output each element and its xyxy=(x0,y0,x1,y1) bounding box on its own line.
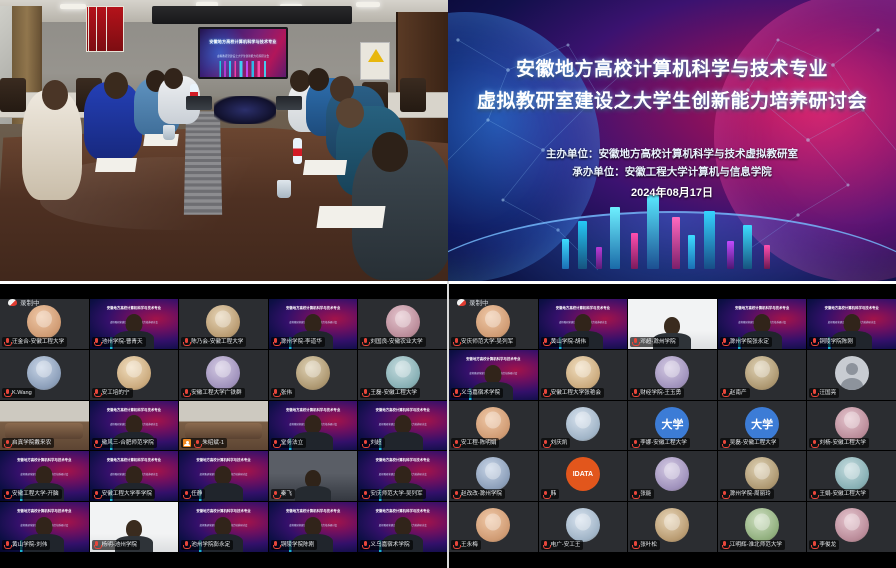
avatar xyxy=(655,356,689,390)
participant-tile[interactable]: 安徽地方高校计算机科学与技术专业虚拟教研室建设之大学生创新能力培养研讨会滁州学院… xyxy=(718,299,807,349)
conference-microphone xyxy=(214,96,276,124)
table-cable-tray xyxy=(184,111,222,214)
participant-name-badge: 铜陵学院陈刚 xyxy=(271,540,318,550)
ceiling-light xyxy=(60,4,86,9)
avatar xyxy=(745,457,779,491)
avatar-face xyxy=(485,513,501,530)
avatar-face xyxy=(485,412,501,429)
participant-tile[interactable]: 安徽地方高校计算机科学与技术专业虚拟教研室建设之大学生创新能力培养研讨会安徽工程… xyxy=(90,451,179,501)
virtual-bg-title: 安徽地方高校计算机科学与技术专业 xyxy=(179,458,268,463)
recording-dot-icon xyxy=(457,299,466,306)
participant-tile-grid: 安庆师范大学-吴列军安徽地方高校计算机科学与技术专业虚拟教研室建设之大学生创新能… xyxy=(449,299,896,552)
microphone-muted-icon xyxy=(94,541,100,548)
participant-tile[interactable]: 安徽地方高校计算机科学与技术专业虚拟教研室建设之大学生创新能力培养研讨会铜陵学院… xyxy=(269,502,358,552)
microphone-muted-icon xyxy=(4,338,10,345)
participant-name: 义乌嘉宿术学院 xyxy=(370,541,409,549)
participant-name-badge: 财经学院-王玉勇 xyxy=(630,388,684,398)
participant-tile[interactable]: 大学吴磊-安徽工程大学 xyxy=(718,401,807,451)
participant-name-badge: 黄山学院-胡伟 xyxy=(541,337,589,347)
participant-name: 朱绍斌-1 xyxy=(202,439,224,447)
microphone-muted-icon xyxy=(632,491,638,498)
microphone-muted-icon xyxy=(183,338,189,345)
microphone-muted-icon xyxy=(543,541,549,548)
avatar xyxy=(835,407,869,441)
right-meeting-grid-panel: 录制中 安庆师范大学-吴列军安徽地方高校计算机科学与技术专业虚拟教研室建设之大学… xyxy=(449,284,896,568)
participant-tile[interactable]: 秦飞 xyxy=(269,451,358,501)
virtual-bg-title: 安徽地方高校计算机科学与技术专业 xyxy=(269,306,358,311)
participant-name-badge: 池州学院-曹青天 xyxy=(92,337,146,347)
participant-name: 安徽工程大学-开脑 xyxy=(12,490,59,498)
participant-tile[interactable]: 邓超-滁州学院 xyxy=(628,299,717,349)
participant-name: 铜陵学院陈刚 xyxy=(819,338,853,346)
participant-tile[interactable]: 电广-安工王 xyxy=(539,502,628,552)
participant-name: 张叶松 xyxy=(640,541,657,549)
event-banner: 安徽地方高校计算机科学与技术专业 虚拟教研室建设之大学生创新能力培养研讨会 主办… xyxy=(448,0,896,281)
microphone-muted-icon xyxy=(453,491,459,498)
avatar xyxy=(117,356,151,390)
banner-date: 2024年08月17日 xyxy=(448,184,896,200)
microphone-muted-icon xyxy=(362,440,368,447)
participant-name-badge: 义乌嘉宿术学院 xyxy=(360,540,412,550)
participant-name: K.Wang xyxy=(12,389,32,397)
participant-name: 李娜-安徽工程大学 xyxy=(640,439,687,447)
participant-name-badge: 义乌嘉宿术学院 xyxy=(451,388,503,398)
microphone-muted-icon xyxy=(273,541,279,548)
wall-poster xyxy=(106,6,124,52)
screenshot-root: 安徽地方高校计算机科学与技术专业 虚拟教研室建设之大学生创新能力培养研讨会 xyxy=(0,0,896,568)
participant-name: 徽风三-合肥师范学院 xyxy=(102,439,154,447)
avatar xyxy=(206,305,240,339)
recording-dot-icon xyxy=(8,299,17,306)
avatar-orange: IDATA xyxy=(566,457,600,491)
recording-indicator: 录制中 xyxy=(8,297,40,307)
screen-skyline-graphic xyxy=(216,61,269,77)
participant-name: 滁州学院张永定 xyxy=(730,338,769,346)
screen-subtitle: 虚拟教研室建设之大学生创新能力培养研讨会 xyxy=(200,55,286,59)
participant-tile[interactable]: 安徽地方高校计算机科学与技术专业虚拟教研室建设之大学生创新能力培养研讨会池州学院… xyxy=(90,299,179,349)
microphone-muted-icon xyxy=(543,389,549,396)
participant-name: 安庆师范大学-吴列军 xyxy=(370,490,422,498)
avatar-face xyxy=(844,513,860,530)
avatar-face xyxy=(844,462,860,479)
participant-name: 安工程-陈明娟 xyxy=(461,439,496,447)
participant-name-badge: 任静 xyxy=(181,489,205,499)
microphone-muted-icon xyxy=(94,389,100,396)
microphone-muted-icon xyxy=(362,338,368,345)
participant-name-badge: 张叶松 xyxy=(630,540,660,550)
microphone-muted-icon xyxy=(543,338,549,345)
laptop xyxy=(276,96,302,110)
avatar xyxy=(566,508,600,542)
participant-tile[interactable]: 安徽工程大学广铁群 xyxy=(179,350,268,400)
participant-name: 滁州学院-李道华 xyxy=(281,338,322,346)
microphone-muted-icon xyxy=(453,338,459,345)
avatar-face xyxy=(664,513,680,530)
avatar xyxy=(566,407,600,441)
participant-tile[interactable]: 江明辉-淮北师范大学 xyxy=(718,502,807,552)
virtual-bg-title: 安徽地方高校计算机科学与技术专业 xyxy=(269,509,358,514)
participant-tile[interactable]: 王永梅 xyxy=(449,502,538,552)
participant-name: 王磊-安徽工程大学 xyxy=(370,389,417,397)
virtual-bg-title: 安徽地方高校计算机科学与技术专业 xyxy=(0,509,89,514)
virtual-bg-title: 安徽地方高校计算机科学与技术专业 xyxy=(0,458,89,463)
avatar xyxy=(655,508,689,542)
participant-name-badge: 汪国亮 xyxy=(809,388,839,398)
microphone-muted-icon xyxy=(632,541,638,548)
banner-host-label: 主办单位：安徽地方高校计算机科学与技术虚拟教研室 xyxy=(448,146,896,161)
participant-tile[interactable]: 安徽地方高校计算机科学与技术专业虚拟教研室建设之大学生创新能力培养研讨会安庆师范… xyxy=(358,451,447,501)
participant-name-badge: 安徽工程大学-开脑 xyxy=(2,489,62,499)
avatar-face xyxy=(754,513,770,530)
participant-name: 滁州学院-周丽玲 xyxy=(730,490,771,498)
avatar-daxue: 大学 xyxy=(655,407,689,441)
participant-name: 李俊龙 xyxy=(819,541,836,549)
participant-tile[interactable]: 安工程-陈明娟 xyxy=(449,401,538,451)
microphone-muted-icon xyxy=(273,491,279,498)
participant-name: 黄山学院-刘伟 xyxy=(12,541,47,549)
participant-name-badge: 池州学院彭永定 xyxy=(181,540,233,550)
participant-tile[interactable]: 安徽地方高校计算机科学与技术专业虚拟教研室建设之大学生创新能力培养研讨会黄山学院… xyxy=(539,299,628,349)
participant-tile[interactable]: 安徽地方高校计算机科学与技术专业虚拟教研室建设之大学生创新能力培养研讨会刘超 xyxy=(358,401,447,451)
participant-name: 杨明-池州学院 xyxy=(102,541,137,549)
participant-tile[interactable]: 安徽地方高校计算机科学与技术专业虚拟教研室建设之大学生创新能力培养研讨会滁州学院… xyxy=(269,299,358,349)
participant-tile[interactable]: 刘杨-安徽工程大学 xyxy=(807,401,896,451)
participant-name: 吴磊-安徽工程大学 xyxy=(730,439,777,447)
avatar xyxy=(476,305,510,339)
microphone-muted-icon xyxy=(722,389,728,396)
participant-name: 赵南产 xyxy=(730,389,747,397)
microphone-muted-icon xyxy=(722,338,728,345)
silhouette-body xyxy=(295,486,331,501)
participant-name: 任静 xyxy=(191,490,202,498)
microphone-muted-icon xyxy=(94,440,100,447)
avatar xyxy=(27,305,61,339)
participant-name: 赵改改-滁州学院 xyxy=(461,490,502,498)
participant-name: 启真学院戴来农 xyxy=(12,439,51,447)
participant-name-badge: 安工培的宁 xyxy=(92,388,133,398)
participant-name-badge: K.Wang xyxy=(2,388,35,398)
participant-tile[interactable]: 汪国亮 xyxy=(807,350,896,400)
avatar-face xyxy=(754,361,770,378)
participant-name: 王娟-安徽工程大学 xyxy=(819,490,866,498)
participant-name: 邓超-滁州学院 xyxy=(640,338,675,346)
participant-name: 堂务法立 xyxy=(281,439,303,447)
participant-tile[interactable]: 滁州学院-周丽玲 xyxy=(718,451,807,501)
participant-silhouette xyxy=(201,469,245,501)
participant-name-badge: 安庆师范大学-吴列军 xyxy=(451,337,516,347)
participant-name: 江明辉-淮北师范大学 xyxy=(730,541,782,549)
participant-name: 秦飞 xyxy=(281,490,292,498)
participant-name-badge: 王永梅 xyxy=(451,540,481,550)
silhouette-body xyxy=(203,483,243,501)
avatar xyxy=(386,356,420,390)
avatar-face xyxy=(305,361,321,378)
participant-name-badge: 刘庆凯 xyxy=(541,438,571,448)
attendee-head xyxy=(104,72,128,99)
avatar-face xyxy=(126,361,142,378)
participant-name-badge: 朱绍斌-1 xyxy=(181,438,227,448)
participant-tile[interactable]: 安徽地方高校计算机科学与技术专业虚拟教研室建设之大学生创新能力培养研讨会任静 xyxy=(179,451,268,501)
virtual-bg-title: 安徽地方高校计算机科学与技术专业 xyxy=(358,509,447,514)
participant-name-badge: 安徽工程大学广铁群 xyxy=(181,388,244,398)
microphone-muted-icon xyxy=(453,389,459,396)
avatar-face xyxy=(575,513,591,530)
participant-silhouette xyxy=(381,418,425,450)
participant-name-badge: 徽风三-合肥师范学院 xyxy=(92,438,157,448)
participant-tile[interactable]: 王磊-安徽工程大学 xyxy=(358,350,447,400)
attendee-head xyxy=(372,132,408,172)
attendee-head xyxy=(308,68,329,91)
avatar xyxy=(206,356,240,390)
microphone-muted-icon xyxy=(453,541,459,548)
microphone-muted-icon xyxy=(4,389,10,396)
avatar-default xyxy=(835,356,869,390)
participant-name: 安徽工程大学李学院 xyxy=(102,490,152,498)
avatar xyxy=(566,356,600,390)
top-half: 安徽地方高校计算机科学与技术专业 虚拟教研室建设之大学生创新能力培养研讨会 xyxy=(0,0,896,284)
participant-tile[interactable]: 杨明-池州学院 xyxy=(90,502,179,552)
avatar-face xyxy=(575,361,591,378)
virtual-bg-title: 安徽地方高校计算机科学与技术专业 xyxy=(807,306,896,311)
participant-name-badge: 韩 xyxy=(541,489,560,499)
microphone-muted-icon xyxy=(362,491,368,498)
participant-tile[interactable]: 安徽地方高校计算机科学与技术专业虚拟教研室建设之大学生创新能力培养研讨会安徽工程… xyxy=(0,451,89,501)
participant-name: 刘超 xyxy=(370,439,381,447)
paper-document xyxy=(95,158,137,172)
skyline-graphic xyxy=(557,191,787,269)
participant-tile[interactable]: 李俊龙 xyxy=(807,502,896,552)
microphone-muted-icon xyxy=(543,491,549,498)
microphone-muted-icon xyxy=(183,491,189,498)
participant-tile[interactable]: 张叶松 xyxy=(628,502,717,552)
participant-tile[interactable]: 张伟 xyxy=(269,350,358,400)
participant-name-badge: 邓超-滁州学院 xyxy=(630,337,678,347)
avatar-daxue: 大学 xyxy=(745,407,779,441)
microphone-muted-icon xyxy=(4,541,10,548)
participant-tile[interactable]: 安徽地方高校计算机科学与技术专业虚拟教研室建设之大学生创新能力培养研讨会义乌嘉宿… xyxy=(449,350,538,400)
microphone-muted-icon xyxy=(273,440,279,447)
microphone-muted-icon xyxy=(183,541,189,548)
participant-name-badge: 杨明-池州学院 xyxy=(92,540,140,550)
participant-name-badge: 启真学院戴来农 xyxy=(2,438,54,448)
microphone-muted-icon xyxy=(811,491,817,498)
participant-tile[interactable]: 陈乃会-安徽工程大学 xyxy=(179,299,268,349)
participant-tile[interactable]: 财经学院-王玉勇 xyxy=(628,350,717,400)
microphone-muted-icon xyxy=(183,389,189,396)
virtual-bg-title: 安徽地方高校计算机科学与技术专业 xyxy=(90,458,179,463)
participant-tile[interactable]: 启真学院戴来农 xyxy=(0,401,89,451)
laptop xyxy=(186,96,212,110)
virtual-bg-title: 安徽地方高校计算机科学与技术专业 xyxy=(269,408,358,413)
participant-tile[interactable]: 刘庆凯 xyxy=(539,401,628,451)
avatar xyxy=(476,407,510,441)
participant-name-badge: 张能 xyxy=(630,489,654,499)
virtual-bg-title: 安徽地方高校计算机科学与技术专业 xyxy=(358,408,447,413)
microphone-muted-icon xyxy=(632,338,638,345)
participant-tile[interactable]: 赵南产 xyxy=(718,350,807,400)
paper-cup xyxy=(163,125,175,140)
microphone-muted-icon xyxy=(194,440,200,447)
avatar-face xyxy=(395,361,411,378)
paper-cup xyxy=(277,180,291,198)
chair xyxy=(0,78,26,112)
avatar xyxy=(835,457,869,491)
participant-name-badge: 陈乃会-安徽工程大学 xyxy=(181,337,246,347)
avatar-face xyxy=(664,462,680,479)
avatar-face xyxy=(754,462,770,479)
participant-name: 刘国良-安徽农业大学 xyxy=(370,338,422,346)
attendee-head xyxy=(290,70,310,92)
participant-tile[interactable]: 赵改改-滁州学院 xyxy=(449,451,538,501)
water-bottle xyxy=(293,138,302,164)
banner-organizer-label: 承办单位：安徽工程大学计算机与信息学院 xyxy=(448,164,896,179)
participant-name: 义乌嘉宿术学院 xyxy=(461,389,500,397)
avatar-face xyxy=(664,361,680,378)
participant-name: 池州学院彭永定 xyxy=(191,541,230,549)
microphone-muted-icon xyxy=(4,440,10,447)
ceiling-light xyxy=(356,2,380,7)
participant-name-badge: 刘杨-安徽工程大学 xyxy=(809,438,869,448)
participant-name: 刘庆凯 xyxy=(551,439,568,447)
virtual-bg-title: 安徽地方高校计算机科学与技术专业 xyxy=(90,306,179,311)
participant-name-badge: 滁州学院张永定 xyxy=(720,337,772,347)
virtual-bg-title: 安徽地方高校计算机科学与技术专业 xyxy=(539,306,628,311)
avatar-face xyxy=(575,412,591,429)
microphone-muted-icon xyxy=(722,491,728,498)
participant-name-badge: 李俊龙 xyxy=(809,540,839,550)
microphone-muted-icon xyxy=(94,338,100,345)
microphone-muted-icon xyxy=(273,338,279,345)
attendee-head xyxy=(42,80,68,110)
avatar xyxy=(835,508,869,542)
participant-tile[interactable]: 大学李娜-安徽工程大学 xyxy=(628,401,717,451)
avatar xyxy=(296,356,330,390)
participant-name: 汪金合-安徽工程大学 xyxy=(12,338,64,346)
microphone-muted-icon xyxy=(722,440,728,447)
avatar xyxy=(655,457,689,491)
participant-silhouette xyxy=(293,471,333,501)
microphone-muted-icon xyxy=(543,440,549,447)
virtual-bg-title: 安徽地方高校计算机科学与技术专业 xyxy=(358,458,447,463)
participant-name-badge: 安工程-陈明娟 xyxy=(451,438,499,448)
virtual-bg-title: 安徽地方高校计算机科学与技术专业 xyxy=(718,306,807,311)
participant-tile[interactable]: 安徽地方高校计算机科学与技术专业虚拟教研室建设之大学生创新能力培养研讨会义乌嘉宿… xyxy=(358,502,447,552)
recording-label: 录制中 xyxy=(20,297,40,307)
participant-name-badge: 安庆师范大学-吴列军 xyxy=(360,489,425,499)
participant-name-badge: 电广-安工王 xyxy=(541,540,584,550)
avatar-face xyxy=(844,412,860,429)
participant-tile[interactable]: 安徽地方高校计算机科学与技术专业虚拟教研室建设之大学生创新能力培养研讨会铜陵学院… xyxy=(807,299,896,349)
paper-document xyxy=(316,206,385,228)
avatar xyxy=(386,305,420,339)
ceiling-beam xyxy=(152,6,352,24)
microphone-muted-icon xyxy=(811,541,817,548)
participant-tile-grid: 汪金合-安徽工程大学安徽地方高校计算机科学与技术专业虚拟教研室建设之大学生创新能… xyxy=(0,299,447,552)
attendee-head xyxy=(336,98,364,128)
silhouette-body xyxy=(383,432,423,450)
participant-name-badge: 铜陵学院陈刚 xyxy=(809,337,856,347)
avatar xyxy=(27,356,61,390)
participant-name: 韩 xyxy=(551,490,557,498)
avatar-face xyxy=(485,462,501,479)
avatar xyxy=(476,457,510,491)
participant-tile[interactable]: 安徽地方高校计算机科学与技术专业虚拟教研室建设之大学生创新能力培养研讨会池州学院… xyxy=(179,502,268,552)
participant-tile[interactable]: 刘国良-安徽农业大学 xyxy=(358,299,447,349)
virtual-bg-title: 安徽地方高校计算机科学与技术专业 xyxy=(179,509,268,514)
participant-tile[interactable]: 安徽地方高校计算机科学与技术专业虚拟教研室建设之大学生创新能力培养研讨会徽风三-… xyxy=(90,401,179,451)
participant-name-badge: 赵南产 xyxy=(720,388,750,398)
avatar-face xyxy=(36,361,52,378)
participant-tile[interactable]: 安徽工程大学张艳会 xyxy=(539,350,628,400)
warning-sign xyxy=(360,42,390,80)
participant-name: 张能 xyxy=(640,490,651,498)
banner-title-line2: 虚拟教研室建设之大学生创新能力培养研讨会 xyxy=(448,86,896,113)
microphone-muted-icon xyxy=(811,440,817,447)
recording-indicator: 录制中 xyxy=(457,297,489,307)
participant-name: 汪国亮 xyxy=(819,389,836,397)
participant-name: 电广-安工王 xyxy=(551,541,581,549)
microphone-muted-icon xyxy=(722,541,728,548)
participant-tile[interactable]: 安徽地方高校计算机科学与技术专业虚拟教研室建设之大学生创新能力培养研讨会黄山学院… xyxy=(0,502,89,552)
microphone-muted-icon xyxy=(94,491,100,498)
participant-name-badge: 安徽工程大学张艳会 xyxy=(541,388,604,398)
participant-name: 王永梅 xyxy=(461,541,478,549)
avatar xyxy=(745,356,779,390)
virtual-bg-title: 安徽地方高校计算机科学与技术专业 xyxy=(449,357,538,362)
participant-name-badge: 王娟-安徽工程大学 xyxy=(809,489,869,499)
participant-tile[interactable]: 安徽地方高校计算机科学与技术专业虚拟教研室建设之大学生创新能力培养研讨会堂务法立 xyxy=(269,401,358,451)
avatar-face xyxy=(395,310,411,327)
participant-name: 安徽工程大学广铁群 xyxy=(191,389,241,397)
conference-room-photo: 安徽地方高校计算机科学与技术专业 虚拟教研室建设之大学生创新能力培养研讨会 xyxy=(0,0,448,281)
participant-tile[interactable]: 王娟-安徽工程大学 xyxy=(807,451,896,501)
microphone-muted-icon xyxy=(362,541,368,548)
participant-tile[interactable]: IDATA韩 xyxy=(539,451,628,501)
participant-name-badge: 张伟 xyxy=(271,388,295,398)
participant-name: 铜陵学院陈刚 xyxy=(281,541,315,549)
avatar xyxy=(745,508,779,542)
participant-name-badge: 吴磊-安徽工程大学 xyxy=(720,438,780,448)
participant-name: 安庆师范大学-吴列军 xyxy=(461,338,513,346)
host-icon xyxy=(183,439,191,447)
participant-tile[interactable]: K.Wang xyxy=(0,350,89,400)
participant-name-badge: 刘国良-安徽农业大学 xyxy=(360,337,425,347)
microphone-muted-icon xyxy=(811,338,817,345)
participant-name: 池州学院-曹青天 xyxy=(102,338,143,346)
recording-label: 录制中 xyxy=(469,297,489,307)
attendee-head xyxy=(164,68,183,89)
participant-name-badge: 江明辉-淮北师范大学 xyxy=(720,540,785,550)
microphone-muted-icon xyxy=(632,440,638,447)
participant-tile[interactable]: 朱绍斌-1 xyxy=(179,401,268,451)
participant-name: 安徽工程大学张艳会 xyxy=(551,389,601,397)
participant-tile[interactable]: 安工培的宁 xyxy=(90,350,179,400)
participant-name-badge: 李娜-安徽工程大学 xyxy=(630,438,690,448)
avatar-face xyxy=(215,361,231,378)
participant-name-badge: 堂务法立 xyxy=(271,438,306,448)
participant-name-badge: 刘超 xyxy=(360,438,384,448)
participant-name: 黄山学院-胡伟 xyxy=(551,338,586,346)
participant-name-badge: 汪金合-安徽工程大学 xyxy=(2,337,67,347)
avatar-face xyxy=(215,310,231,327)
presentation-screen: 安徽地方高校计算机科学与技术专业 虚拟教研室建设之大学生创新能力培养研讨会 xyxy=(198,27,288,79)
participant-name-badge: 赵改改-滁州学院 xyxy=(451,489,505,499)
participant-name-badge: 安徽工程大学李学院 xyxy=(92,489,155,499)
participant-tile[interactable]: 张能 xyxy=(628,451,717,501)
participant-name-badge: 黄山学院-刘伟 xyxy=(2,540,50,550)
microphone-muted-icon xyxy=(273,389,279,396)
participant-name-badge: 滁州学院-李道华 xyxy=(271,337,325,347)
